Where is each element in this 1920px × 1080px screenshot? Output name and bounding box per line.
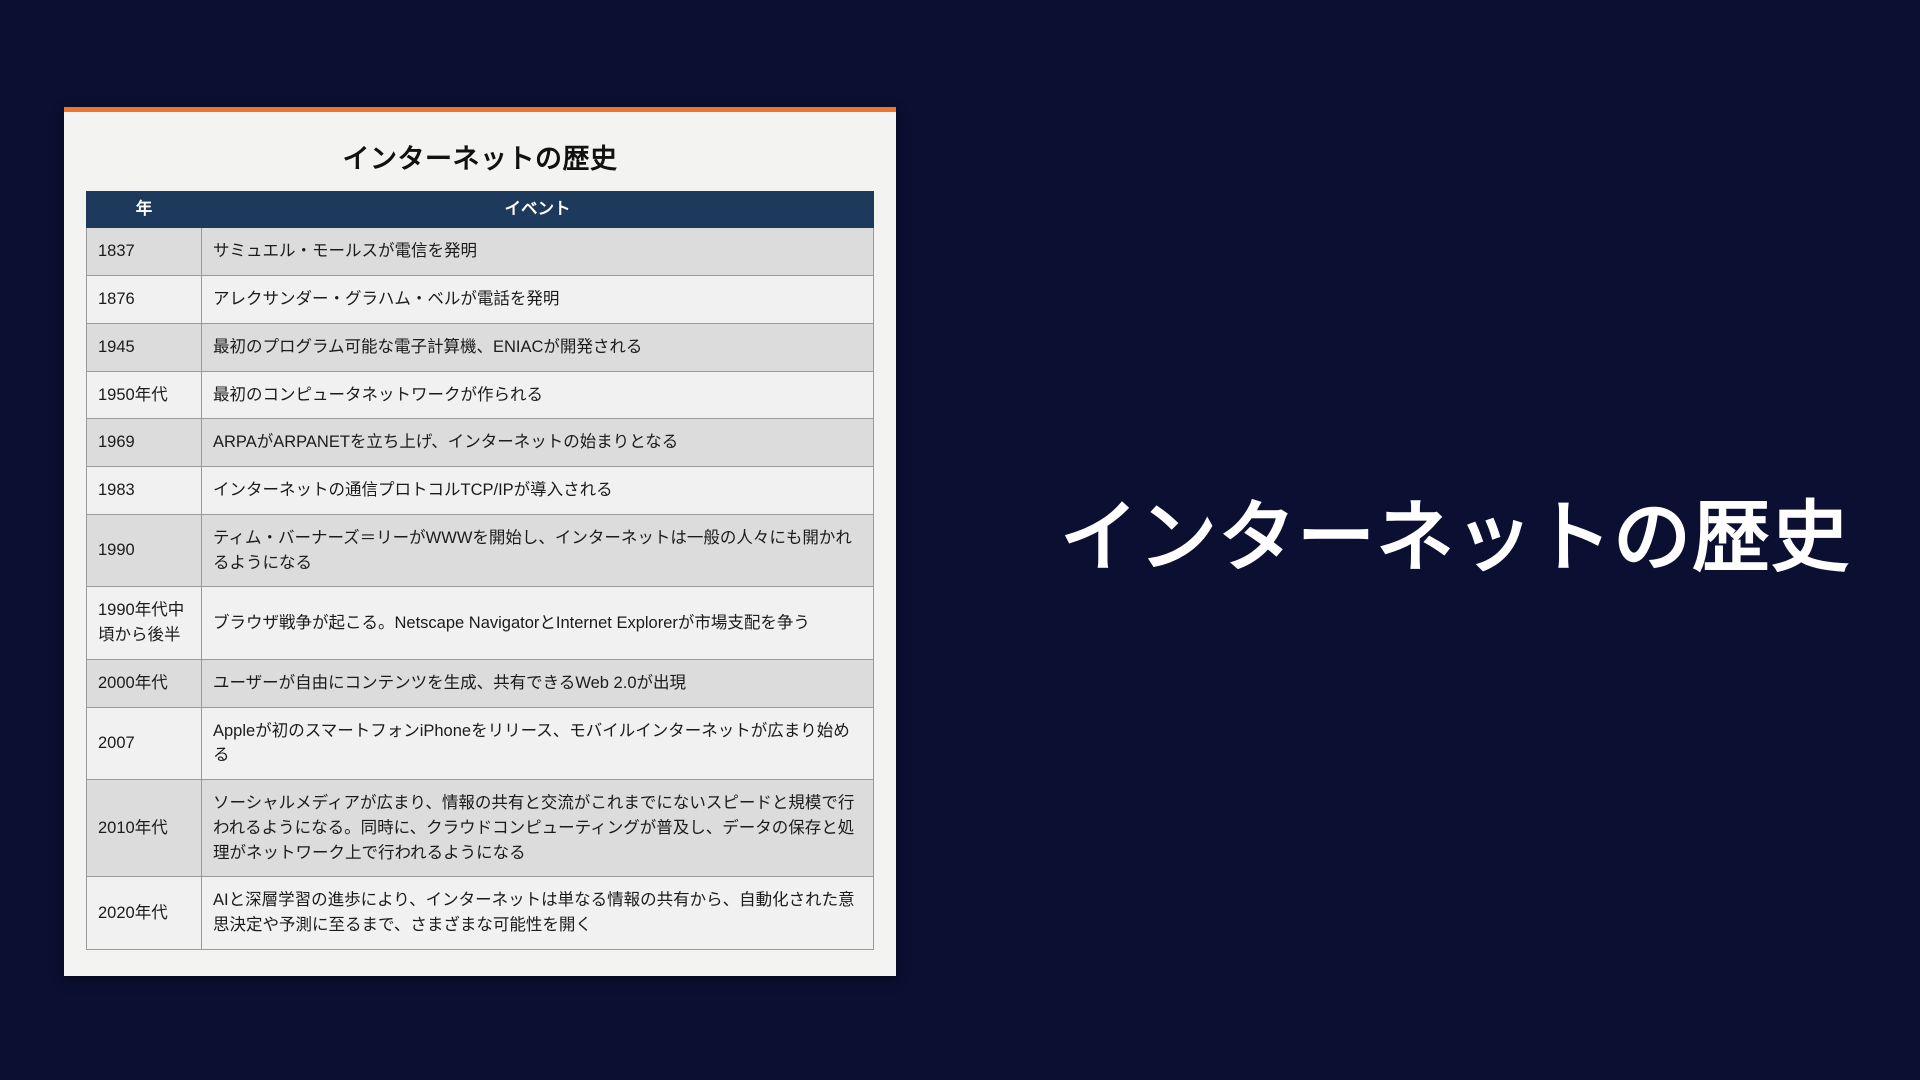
table-body: 1837サミュエル・モールスが電信を発明1876アレクサンダー・グラハム・ベルが… <box>87 228 874 950</box>
table-row: 1876アレクサンダー・グラハム・ベルが電話を発明 <box>87 276 874 324</box>
table-header: 年 イベント <box>87 192 874 228</box>
table-cell-year: 2020年代 <box>87 877 202 950</box>
column-header-event: イベント <box>202 192 874 228</box>
table-row: 2007Appleが初のスマートフォンiPhoneをリリース、モバイルインターネ… <box>87 707 874 780</box>
table-cell-year: 1969 <box>87 419 202 467</box>
table-cell-event: Appleが初のスマートフォンiPhoneをリリース、モバイルインターネットが広… <box>202 707 874 780</box>
table-cell-event: AIと深層学習の進歩により、インターネットは単なる情報の共有から、自動化された意… <box>202 877 874 950</box>
table-header-row: 年 イベント <box>87 192 874 228</box>
table-cell-year: 1837 <box>87 228 202 276</box>
table-cell-year: 1990年代中頃から後半 <box>87 587 202 660</box>
table-cell-event: サミュエル・モールスが電信を発明 <box>202 228 874 276</box>
table-row: 1945最初のプログラム可能な電子計算機、ENIACが開発される <box>87 323 874 371</box>
slide-heading: インターネットの歴史 <box>1060 498 1850 576</box>
card-title: インターネットの歴史 <box>86 124 874 191</box>
table-row: 2010年代ソーシャルメディアが広まり、情報の共有と交流がこれまでにないスピード… <box>87 780 874 877</box>
table-row: 1837サミュエル・モールスが電信を発明 <box>87 228 874 276</box>
table-row: 1969ARPAがARPANETを立ち上げ、インターネットの始まりとなる <box>87 419 874 467</box>
table-cell-event: アレクサンダー・グラハム・ベルが電話を発明 <box>202 276 874 324</box>
table-row: 1990ティム・バーナーズ＝リーがWWWを開始し、インターネットは一般の人々にも… <box>87 514 874 587</box>
table-cell-year: 2007 <box>87 707 202 780</box>
internet-history-table: 年 イベント 1837サミュエル・モールスが電信を発明1876アレクサンダー・グ… <box>86 191 874 950</box>
table-cell-year: 2010年代 <box>87 780 202 877</box>
table-cell-event: ソーシャルメディアが広まり、情報の共有と交流がこれまでにないスピードと規模で行わ… <box>202 780 874 877</box>
table-cell-year: 2000年代 <box>87 659 202 707</box>
table-cell-event: ブラウザ戦争が起こる。Netscape NavigatorとInternet E… <box>202 587 874 660</box>
table-row: 2000年代ユーザーが自由にコンテンツを生成、共有できるWeb 2.0が出現 <box>87 659 874 707</box>
table-cell-year: 1945 <box>87 323 202 371</box>
table-cell-year: 1983 <box>87 467 202 515</box>
table-row: 1990年代中頃から後半ブラウザ戦争が起こる。Netscape Navigato… <box>87 587 874 660</box>
table-cell-year: 1990 <box>87 514 202 587</box>
table-cell-event: ユーザーが自由にコンテンツを生成、共有できるWeb 2.0が出現 <box>202 659 874 707</box>
column-header-year: 年 <box>87 192 202 228</box>
table-cell-event: 最初のプログラム可能な電子計算機、ENIACが開発される <box>202 323 874 371</box>
table-cell-event: ティム・バーナーズ＝リーがWWWを開始し、インターネットは一般の人々にも開かれる… <box>202 514 874 587</box>
table-cell-event: ARPAがARPANETを立ち上げ、インターネットの始まりとなる <box>202 419 874 467</box>
table-cell-event: インターネットの通信プロトコルTCP/IPが導入される <box>202 467 874 515</box>
table-cell-year: 1876 <box>87 276 202 324</box>
table-row: 1983インターネットの通信プロトコルTCP/IPが導入される <box>87 467 874 515</box>
history-card-panel: インターネットの歴史 年 イベント 1837サミュエル・モールスが電信を発明18… <box>64 107 896 976</box>
table-row: 2020年代AIと深層学習の進歩により、インターネットは単なる情報の共有から、自… <box>87 877 874 950</box>
table-cell-event: 最初のコンピュータネットワークが作られる <box>202 371 874 419</box>
table-cell-year: 1950年代 <box>87 371 202 419</box>
table-row: 1950年代最初のコンピュータネットワークが作られる <box>87 371 874 419</box>
